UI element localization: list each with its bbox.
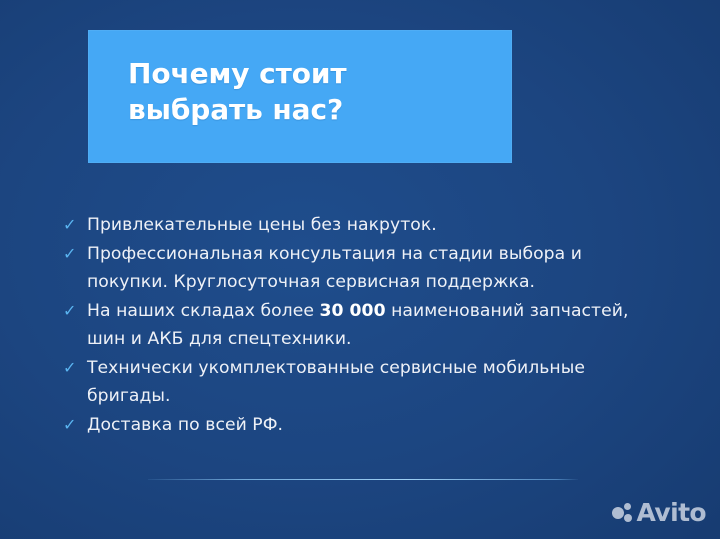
list-item: ✓ Доставка по всей РФ.: [63, 411, 668, 439]
list-item: ✓ Привлекательные цены без накруток.: [63, 211, 668, 239]
title-banner: Почему стоит выбрать нас?: [88, 30, 512, 163]
list-item: ✓ Технически укомплектованные сервисные …: [63, 354, 668, 410]
list-item: ✓ Профессиональная консультация на стади…: [63, 240, 668, 296]
check-icon: ✓: [63, 411, 87, 439]
check-icon: ✓: [63, 240, 87, 268]
list-item: ✓ На наших складах более 30 000 наименов…: [63, 297, 668, 353]
list-item-text: На наших складах более 30 000 наименован…: [87, 297, 668, 353]
list-item-text: Технически укомплектованные сервисные мо…: [87, 354, 668, 410]
avito-watermark: Avito: [612, 500, 706, 525]
list-item-text: Привлекательные цены без накруток.: [87, 211, 668, 239]
page-title: Почему стоит выбрать нас?: [128, 56, 494, 128]
check-icon: ✓: [63, 211, 87, 239]
avito-wordmark: Avito: [637, 500, 706, 525]
slide-canvas: Почему стоит выбрать нас? ✓ Привлекатель…: [0, 0, 720, 539]
list-item-text: Профессиональная консультация на стадии …: [87, 240, 668, 296]
check-icon: ✓: [63, 297, 87, 325]
divider-line: [148, 479, 578, 480]
avito-dots-icon: [612, 502, 634, 524]
list-item-text: Доставка по всей РФ.: [87, 411, 668, 439]
check-icon: ✓: [63, 354, 87, 382]
benefits-list: ✓ Привлекательные цены без накруток. ✓ П…: [63, 211, 668, 440]
